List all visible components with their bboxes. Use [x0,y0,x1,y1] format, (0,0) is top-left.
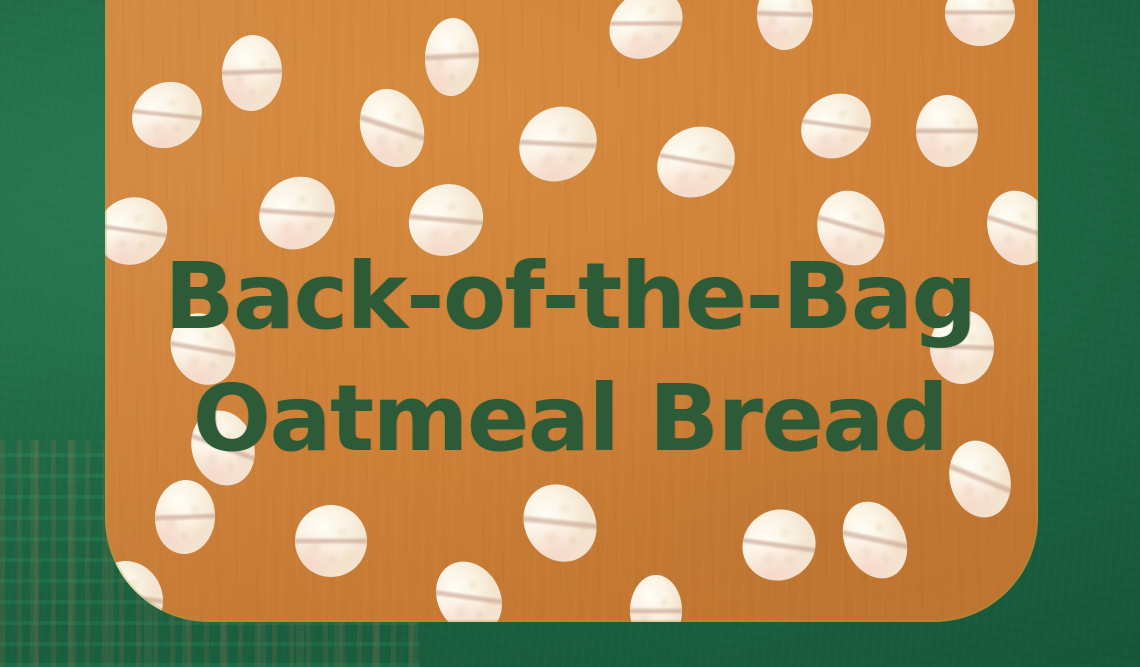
title-line-2: Oatmeal Bread [0,358,1140,480]
title-line-1: Back-of-the-Bag [0,236,1140,358]
page-title: Back-of-the-Bag Oatmeal Bread [0,236,1140,481]
recipe-header-image: Back-of-the-Bag Oatmeal Bread [0,0,1140,667]
